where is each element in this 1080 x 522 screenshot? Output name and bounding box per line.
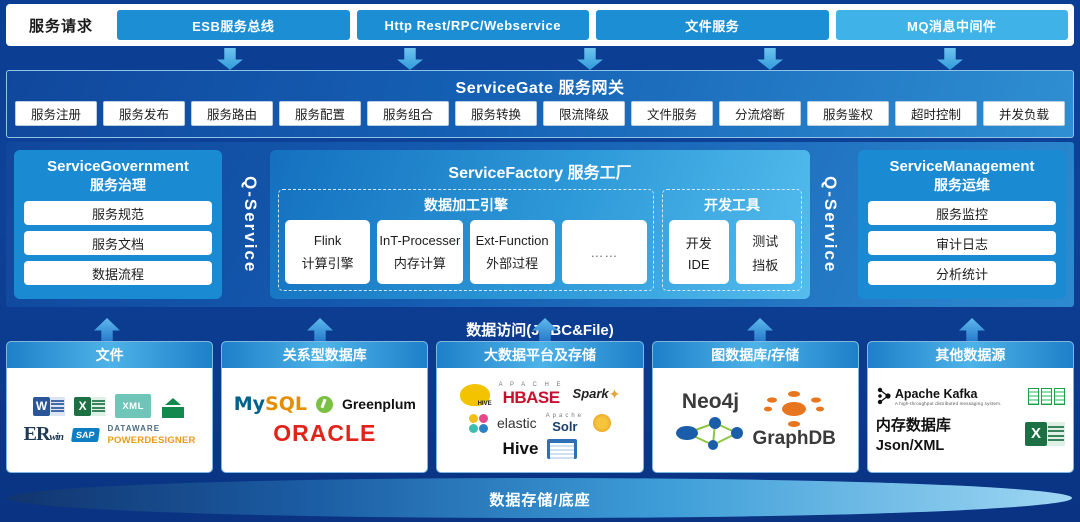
hive-logo: Hive xyxy=(503,439,539,459)
word-icon-lines xyxy=(50,397,65,416)
gate-item-timeout-control[interactable]: 超时控制 xyxy=(895,101,977,126)
green-document-icon xyxy=(160,394,186,418)
elastic-logo: elastic xyxy=(497,415,537,431)
gate-item-service-transform[interactable]: 服务转换 xyxy=(455,101,537,126)
gate-item-service-config[interactable]: 服务配置 xyxy=(279,101,361,126)
graphdb-logo-row: Neo4j xyxy=(675,390,836,451)
file-logo-row-1: W X XML xyxy=(33,394,186,418)
governance-item-service-spec[interactable]: 服务规范 xyxy=(24,201,212,225)
arrow-down-icon-3 xyxy=(577,48,603,70)
service-management-title-en: ServiceManagement xyxy=(868,158,1056,177)
management-item-service-monitor[interactable]: 服务监控 xyxy=(868,201,1056,225)
greenplum-icon xyxy=(316,396,333,413)
arrow-down-icon-2 xyxy=(397,48,423,70)
dev-tools-card-test-desc: 挡板 xyxy=(752,255,778,274)
data-source-files-title: 文件 xyxy=(7,342,212,368)
excel-icon: X xyxy=(74,397,106,416)
gate-item-rate-limit[interactable]: 限流降级 xyxy=(543,101,625,126)
data-source-panels: 文件 W X XML xyxy=(6,341,1074,473)
service-management-title: ServiceManagement 服务运维 xyxy=(868,158,1056,194)
arrow-down-icon-4 xyxy=(757,48,783,70)
dev-tools-card-test-name: 测试 xyxy=(752,231,778,250)
excel-icon-other-badge: X xyxy=(1025,422,1047,446)
oracle-logo: ORACLE xyxy=(273,420,376,447)
bigdata-logo-row-2: elastic Apache Solr xyxy=(469,413,611,434)
q-service-text-left: Q-Service xyxy=(240,176,260,273)
excel-icon-other-lines xyxy=(1047,422,1065,446)
request-button-esb[interactable]: ESB服务总线 xyxy=(117,10,350,40)
engine-card-more-label: …… xyxy=(590,245,618,260)
service-factory-panel: ServiceFactory 服务工厂 数据加工引擎 Flink 计算引擎 In… xyxy=(270,150,810,299)
solr-sun-icon xyxy=(593,414,611,432)
service-government-title-en: ServiceGovernment xyxy=(24,158,212,177)
data-source-other-title: 其他数据源 xyxy=(868,342,1073,368)
data-source-bigdata-title: 大数据平台及存储 xyxy=(437,342,642,368)
service-government-title-cn: 服务治理 xyxy=(24,177,212,195)
gate-item-service-publish[interactable]: 服务发布 xyxy=(103,101,185,126)
middle-band: ServiceGovernment 服务治理 服务规范 服务文档 数据流程 Q-… xyxy=(6,142,1074,307)
q-service-label-right: Q-Service xyxy=(810,142,850,307)
data-source-files-body: W X XML ERwin SAP xyxy=(7,368,212,472)
request-button-file-service[interactable]: 文件服务 xyxy=(596,10,829,40)
service-management-title-cn: 服务运维 xyxy=(868,177,1056,195)
greenplum-logo: Greenplum xyxy=(342,396,416,412)
dev-tools-box: 开发工具 开发 IDE 测试 挡板 xyxy=(662,189,802,291)
hbase-logo: HBASE xyxy=(503,388,560,408)
hive-bee-icon xyxy=(460,384,490,406)
engine-card-ext-function-name: Ext-Function xyxy=(476,233,549,248)
management-item-analytics[interactable]: 分析统计 xyxy=(868,261,1056,285)
gate-item-service-compose[interactable]: 服务组合 xyxy=(367,101,449,126)
q-service-text-right: Q-Service xyxy=(820,176,840,273)
engine-card-flink-name: Flink xyxy=(314,233,341,248)
data-processing-engine-title: 数据加工引擎 xyxy=(285,193,647,220)
data-source-graph-db-body: Neo4j xyxy=(653,368,858,472)
request-button-http-rest[interactable]: Http Rest/RPC/Webservice xyxy=(357,10,590,40)
data-source-relational-db-title: 关系型数据库 xyxy=(222,342,427,368)
dev-tools-card-ide-name: 开发 xyxy=(686,233,712,252)
spark-logo: Spark xyxy=(573,386,609,401)
service-government-title: ServiceGovernment 服务治理 xyxy=(24,158,212,194)
neo4j-graph-icon xyxy=(675,415,747,451)
dev-tools-card-ide-desc: IDE xyxy=(688,257,710,272)
data-storage-base-label: 数据存储/底座 xyxy=(0,489,1080,510)
green-document-icon-base xyxy=(162,407,184,418)
service-request-label: 服务请求 xyxy=(12,15,110,36)
json-xml-label: Json/XML xyxy=(876,438,951,454)
service-government-panel: ServiceGovernment 服务治理 服务规范 服务文档 数据流程 xyxy=(14,150,222,299)
data-source-files[interactable]: 文件 W X XML xyxy=(6,341,213,473)
mysql-logo-sql: SQL xyxy=(265,393,307,415)
erwin-logo-win: win xyxy=(49,431,63,443)
bigdata-logo-row-1: A P A C H E HBASE Spark ✦ xyxy=(460,382,621,408)
engine-card-more[interactable]: …… xyxy=(562,220,647,284)
engine-card-list: Flink 计算引擎 InT-Processer 内存计算 Ext-Functi… xyxy=(285,220,647,284)
data-source-bigdata-body: A P A C H E HBASE Spark ✦ ela xyxy=(437,368,642,472)
kafka-logo: Apache Kafka xyxy=(895,387,1002,401)
data-storage-base: 数据存储/底座 xyxy=(0,476,1080,522)
gate-item-file-service[interactable]: 文件服务 xyxy=(631,101,713,126)
spark-star-icon: ✦ xyxy=(609,386,621,403)
data-source-bigdata[interactable]: 大数据平台及存储 A P A C H E HBASE Spark ✦ xyxy=(436,341,643,473)
engine-card-flink-desc: 计算引擎 xyxy=(302,253,354,272)
powerdesigner-logo: POWERDESIGNER xyxy=(107,435,195,446)
xml-file-icon: XML xyxy=(115,394,151,418)
dev-tools-title: 开发工具 xyxy=(669,193,795,220)
excel-icon-lines xyxy=(91,397,106,416)
data-source-graph-db-title: 图数据库/存储 xyxy=(653,342,858,368)
service-gate-panel: ServiceGate 服务网关 服务注册 服务发布 服务路由 服务配置 服务组… xyxy=(6,70,1074,138)
service-gate-title: ServiceGate 服务网关 xyxy=(7,71,1073,101)
dataware-logo: DATAWARE xyxy=(107,424,160,433)
bigdata-logo-row-3: Hive xyxy=(503,439,578,459)
service-factory-title: ServiceFactory 服务工厂 xyxy=(278,156,802,189)
service-management-panel: ServiceManagement 服务运维 服务监控 审计日志 分析统计 xyxy=(858,150,1066,299)
service-factory-body: 数据加工引擎 Flink 计算引擎 InT-Processer 内存计算 Ext… xyxy=(278,189,802,291)
mysql-logo: MySQL xyxy=(234,393,307,415)
data-source-relational-db-body: MySQL Greenplum ORACLE xyxy=(222,368,427,472)
engine-card-int-processer[interactable]: InT-Processer 内存计算 xyxy=(377,220,462,284)
gate-item-circuit-breaker[interactable]: 分流熔断 xyxy=(719,101,801,126)
architecture-diagram: 服务请求 ESB服务总线 Http Rest/RPC/Webservice 文件… xyxy=(0,0,1080,522)
graphdb-logo: GraphDB xyxy=(753,428,836,450)
sap-logo: SAP xyxy=(71,428,99,442)
dev-tools-card-list: 开发 IDE 测试 挡板 xyxy=(669,220,795,284)
arrow-down-icon-5 xyxy=(937,48,963,70)
neo4j-logo: Neo4j xyxy=(682,390,739,414)
engine-card-flink[interactable]: Flink 计算引擎 xyxy=(285,220,370,284)
table-grid-icon xyxy=(1028,388,1065,405)
governance-item-data-flow[interactable]: 数据流程 xyxy=(24,261,212,285)
q-service-label-left: Q-Service xyxy=(230,142,270,307)
rdbms-logo-row-1: MySQL Greenplum xyxy=(234,393,416,415)
memory-db-label: 内存数据库 xyxy=(876,414,951,435)
data-processing-engine-box: 数据加工引擎 Flink 计算引擎 InT-Processer 内存计算 Ext… xyxy=(278,189,654,291)
hive-folder-icon xyxy=(547,439,577,459)
service-gate-item-list: 服务注册 服务发布 服务路由 服务配置 服务组合 服务转换 限流降级 文件服务 … xyxy=(7,101,1073,126)
kafka-tagline: A high-throughput distributed messaging … xyxy=(895,401,1002,406)
gate-item-concurrency-load[interactable]: 并发负载 xyxy=(983,101,1065,126)
gate-item-service-route[interactable]: 服务路由 xyxy=(191,101,273,126)
excel-icon-badge: X xyxy=(74,397,91,416)
rdbms-logo-row-2: ORACLE xyxy=(273,420,376,447)
engine-card-int-processer-desc: 内存计算 xyxy=(394,253,446,272)
erwin-logo-er: ER xyxy=(24,423,50,445)
word-icon-badge: W xyxy=(33,397,50,416)
management-item-audit-log[interactable]: 审计日志 xyxy=(868,231,1056,255)
solr-logo: Solr xyxy=(552,419,577,434)
file-logo-row-2: ERwin SAP DATAWARE POWERDESIGNER xyxy=(24,423,196,446)
governance-item-service-doc[interactable]: 服务文档 xyxy=(24,231,212,255)
elastic-icon xyxy=(469,414,488,433)
data-source-other[interactable]: 其他数据源 Apache Kafka A high-throu xyxy=(867,341,1074,473)
green-document-icon-top xyxy=(165,398,181,405)
dev-tools-card-ide[interactable]: 开发 IDE xyxy=(669,220,729,284)
kafka-icon xyxy=(876,387,892,405)
excel-icon-other: X xyxy=(1025,422,1065,446)
engine-card-ext-function-desc: 外部过程 xyxy=(486,253,538,272)
gate-item-service-register[interactable]: 服务注册 xyxy=(15,101,97,126)
erwin-logo: ERwin xyxy=(24,423,63,446)
arrow-down-icon-1 xyxy=(217,48,243,70)
gate-item-service-auth[interactable]: 服务鉴权 xyxy=(807,101,889,126)
data-source-relational-db[interactable]: 关系型数据库 MySQL Greenplum ORACLE xyxy=(221,341,428,473)
graphdb-radial-icon xyxy=(763,391,825,427)
data-source-other-body: Apache Kafka A high-throughput distribut… xyxy=(868,368,1073,472)
engine-card-ext-function[interactable]: Ext-Function 外部过程 xyxy=(470,220,555,284)
request-button-mq[interactable]: MQ消息中间件 xyxy=(836,10,1069,40)
word-icon: W xyxy=(33,397,65,416)
mysql-logo-my: My xyxy=(234,393,265,415)
data-source-graph-db[interactable]: 图数据库/存储 Neo4j xyxy=(652,341,859,473)
dev-tools-card-test[interactable]: 测试 挡板 xyxy=(736,220,796,284)
service-request-bar: 服务请求 ESB服务总线 Http Rest/RPC/Webservice 文件… xyxy=(6,4,1074,46)
engine-card-int-processer-name: InT-Processer xyxy=(379,233,460,248)
